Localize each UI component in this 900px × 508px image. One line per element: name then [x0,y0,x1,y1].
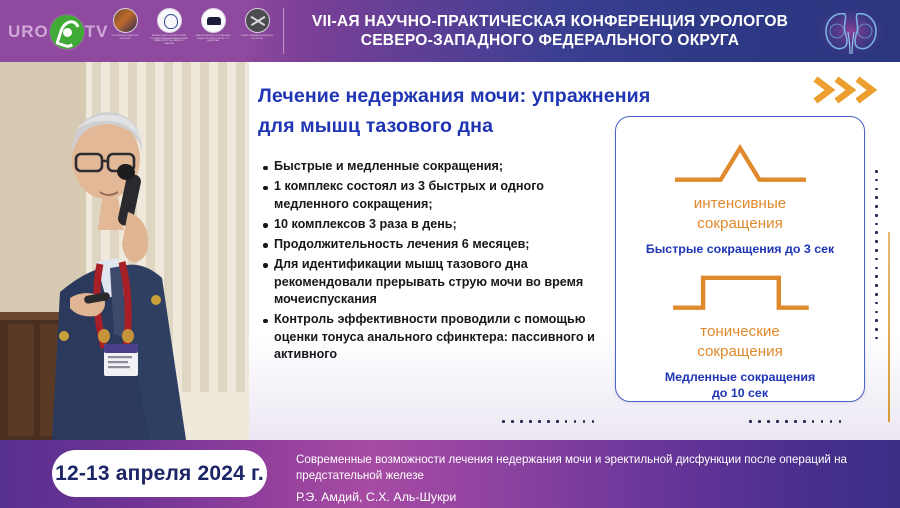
partner-3-caption: САНКТ-ПЕТЕРБУРГСКОЕ НАУЧНОЕ ОБЩЕСТВО УРО… [194,35,232,43]
bullet-text: Контроль эффективности проводили с помощ… [274,311,609,364]
decorative-dots-column [875,170,878,339]
slide-title-line1: Лечение недержания мочи: упражнения [258,81,728,111]
triple-chevron-right-icon [813,76,885,104]
bullet-dot-icon [257,178,274,213]
slide-content: Лечение недержания мочи: упражнения для … [249,62,900,440]
partner-4-icon [245,8,270,33]
list-item: 10 комплексов 3 раза в день; [257,216,609,234]
bullet-text: 1 комплекс состоял из 3 быстрых и одного… [274,178,609,213]
plateau-label: тонические сокращения [697,322,783,362]
bullet-text: Продолжительность лечения 6 месяцев; [274,236,530,254]
spike-waveform-icon [648,141,833,190]
contraction-types-card: интенсивные сокращения Быстрые сокращени… [615,116,865,402]
conference-title-line2: СЕВЕРО-ЗАПАДНОГО ФЕДЕРАЛЬНОГО ОКРУГА [300,31,800,50]
kidneys-icon [812,4,890,58]
plateau-caption: Медленные сокращения до 10 сек [665,369,815,401]
presentation-title: Современные возможности лечения недержан… [296,452,886,483]
spike-caption: Быстрые сокращения до 3 сек [646,241,834,257]
plateau-caption-line1: Медленные сокращения [665,369,815,385]
date-badge: 12-13 апреля 2024 г. [52,450,267,497]
spike-label-line1: интенсивные [694,194,786,214]
list-item: Продолжительность лечения 6 месяцев; [257,236,609,254]
partner-2-icon [157,8,182,33]
presentation-authors: Р.Э. Амдий, С.Х. Аль-Шукри [296,489,886,505]
bullet-list: Быстрые и медленные сокращения; 1 компле… [257,158,609,367]
conference-title-line1: VII-АЯ НАУЧНО-ПРАКТИЧЕСКАЯ КОНФЕРЕНЦИЯ У… [300,12,800,31]
partner-logo-1: РОССИЙСКОЕ ОБЩЕСТВО УРОЛОГОВ [106,8,144,56]
partner-1-icon [113,8,138,33]
list-item: Быстрые и медленные сокращения; [257,158,609,176]
logo-text-tv: TV [85,22,109,42]
plateau-label-line2: сокращения [697,342,783,362]
conference-header-banner: URO TV РОССИЙСКОЕ ОБЩЕСТВО УРОЛОГОВ ПЕРВ… [0,0,900,62]
bullet-dot-icon [257,236,274,254]
partner-logo-2: ПЕРВЫЙ САНКТ-ПЕТЕРБУРГСКИЙ ГОСУДАРСТВЕНН… [150,8,188,56]
bullet-dot-icon [257,311,274,364]
urotv-logo: URO TV [8,14,104,50]
gold-accent-line [888,232,890,422]
bullet-text: 10 комплексов 3 раза в день; [274,216,457,234]
bullet-text: Для идентификации мышц тазового дна реко… [274,256,609,309]
partner-logo-3: САНКТ-ПЕТЕРБУРГСКОЕ НАУЧНОЕ ОБЩЕСТВО УРО… [194,8,232,56]
urotv-leaf-emblem-icon [50,15,84,49]
bullet-dot-icon [257,216,274,234]
partner-logo-4: СЕВЕРО-ЗАПАДНОЕ ОБЩЕСТВО УРОЛОГОВ [238,8,276,56]
bullet-text: Быстрые и медленные сокращения; [274,158,503,176]
conference-title: VII-АЯ НАУЧНО-ПРАКТИЧЕСКАЯ КОНФЕРЕНЦИЯ У… [300,12,800,50]
speaker-photo-illustration [0,62,249,440]
list-item: 1 комплекс состоял из 3 быстрых и одного… [257,178,609,213]
spike-label: интенсивные сокращения [694,194,786,234]
partner-3-icon [201,8,226,33]
spike-label-line2: сокращения [694,214,786,234]
plateau-label-line1: тонические [697,322,783,342]
header-divider [283,8,284,54]
decorative-dots-row-right [749,420,841,423]
bullet-dot-icon [257,158,274,176]
plateau-waveform-icon [648,269,833,318]
decorative-dots-row-left [502,420,594,423]
bullet-dot-icon [257,256,274,309]
list-item: Для идентификации мышц тазового дна реко… [257,256,609,309]
partner-4-caption: СЕВЕРО-ЗАПАДНОЕ ОБЩЕСТВО УРОЛОГОВ [238,35,276,40]
list-item: Контроль эффективности проводили с помощ… [257,311,609,364]
plateau-caption-line2: до 10 сек [665,385,815,401]
partner-1-caption: РОССИЙСКОЕ ОБЩЕСТВО УРОЛОГОВ [106,35,144,40]
speaker-photo [0,62,249,440]
logo-text-uro: URO [8,22,49,42]
partner-logos: РОССИЙСКОЕ ОБЩЕСТВО УРОЛОГОВ ПЕРВЫЙ САНК… [106,8,274,56]
partner-2-caption: ПЕРВЫЙ САНКТ-ПЕТЕРБУРГСКИЙ ГОСУДАРСТВЕНН… [150,35,188,45]
slide-footer: 12-13 апреля 2024 г. Современные возможн… [0,440,900,508]
